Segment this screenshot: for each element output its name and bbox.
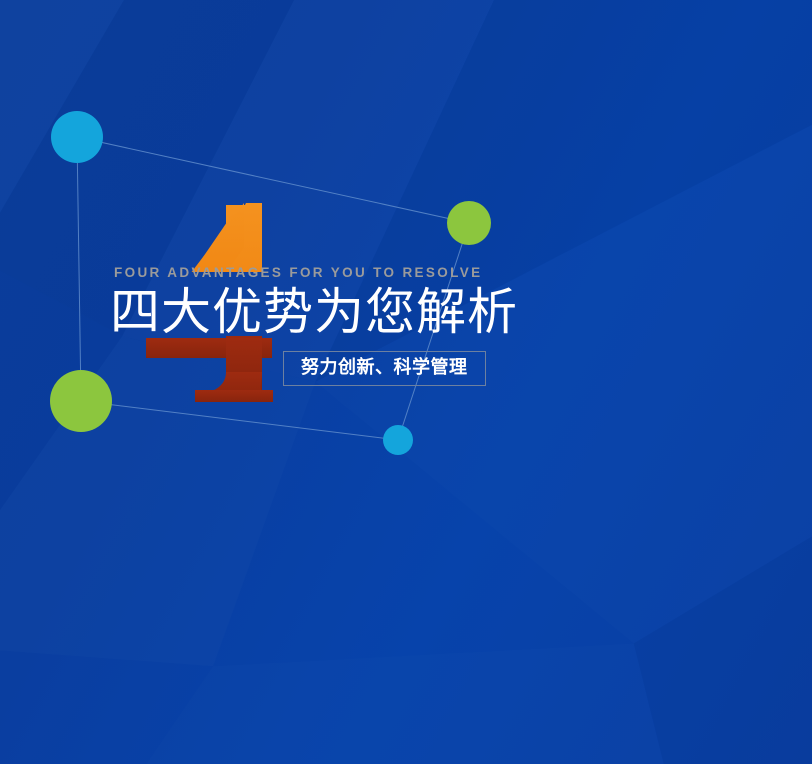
banner-tagline-box: 努力创新、科学管理 bbox=[283, 351, 486, 386]
banner-text-block: FOUR ADVANTAGES FOR YOU TO RESOLVE 四大优势为… bbox=[112, 266, 752, 339]
banner-headline: 四大优势为您解析 bbox=[110, 286, 752, 339]
promo-banner: FOUR ADVANTAGES FOR YOU TO RESOLVE 四大优势为… bbox=[0, 0, 812, 764]
banner-eyebrow: FOUR ADVANTAGES FOR YOU TO RESOLVE bbox=[114, 266, 752, 280]
banner-tagline-row: 努力创新、科学管理 bbox=[283, 351, 486, 386]
